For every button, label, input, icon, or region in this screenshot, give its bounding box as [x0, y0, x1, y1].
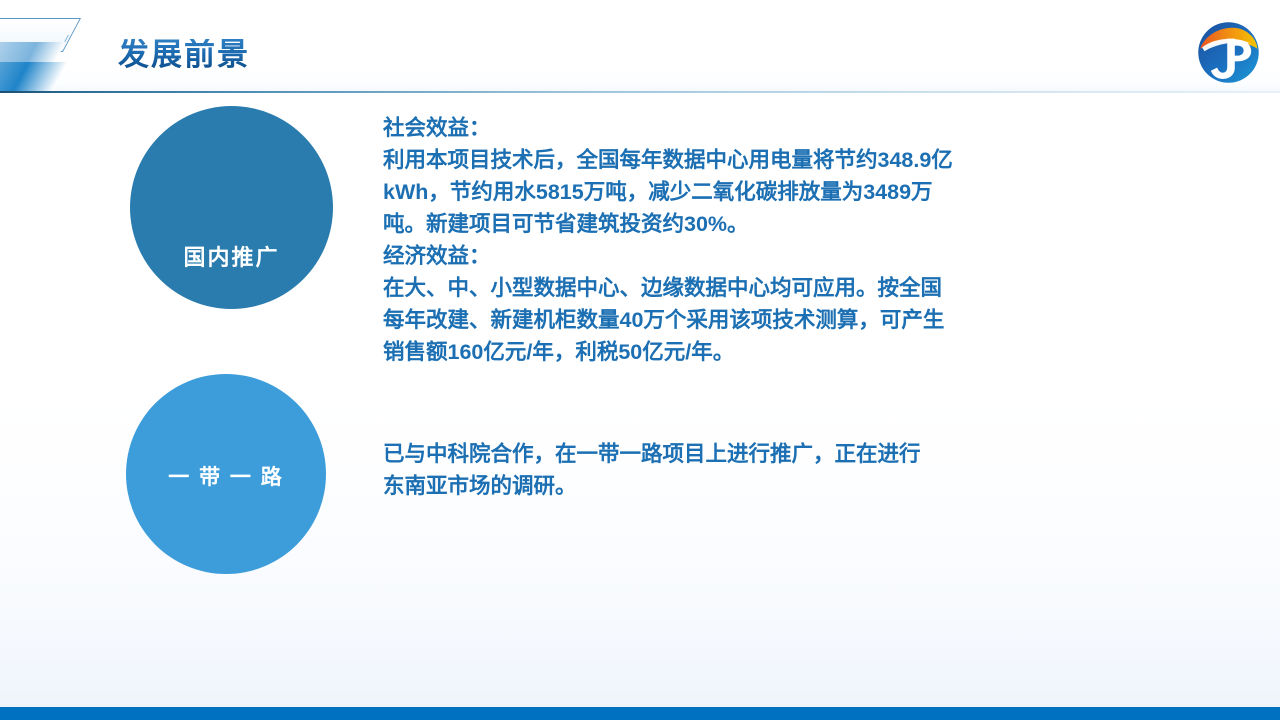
- copy-line: 社会效益：: [383, 112, 1063, 144]
- deco-shape-fill-light: [0, 42, 66, 64]
- header-divider: [0, 91, 1280, 93]
- content-block-belt-road: 已与中科院合作，在一带一路项目上进行推广，正在进行 东南亚市场的调研。: [383, 438, 1063, 502]
- bubble-label-belt-road: 一 带 一 路: [168, 461, 284, 491]
- copy-line: 利用本项目技术后，全国每年数据中心用电量将节约348.9亿: [383, 144, 1063, 176]
- copy-line: 经济效益：: [383, 240, 1063, 272]
- deco-shape-fill-blue: [0, 62, 68, 92]
- company-logo-icon: [1197, 21, 1260, 84]
- copy-line: 东南亚市场的调研。: [383, 470, 1063, 502]
- copy-line: 已与中科院合作，在一带一路项目上进行推广，正在进行: [383, 438, 1063, 470]
- copy-line: 销售额160亿元/年，利税50亿元/年。: [383, 336, 1063, 368]
- slide-canvas: 发展前景 国内推广: [0, 0, 1280, 720]
- copy-line: 吨。新建项目可节省建筑投资约30%。: [383, 208, 1063, 240]
- page-title: 发展前景: [118, 39, 250, 70]
- bubble-label-domestic: 国内推广: [183, 240, 279, 272]
- bubble-belt-and-road: 一 带 一 路: [126, 374, 326, 574]
- copy-line: 在大、中、小型数据中心、边缘数据中心均可应用。按全国: [383, 272, 1063, 304]
- footer-bar: [0, 707, 1280, 720]
- copy-line: kWh，节约用水5815万吨，减少二氧化碳排放量为3489万: [383, 176, 1063, 208]
- slide-header: 发展前景: [0, 0, 1280, 93]
- bubble-domestic-promotion: 国内推广: [130, 106, 333, 309]
- copy-line: 每年改建、新建机柜数量40万个采用该项技术测算，可产生: [383, 304, 1063, 336]
- content-block-benefits: 社会效益： 利用本项目技术后，全国每年数据中心用电量将节约348.9亿 kWh，…: [383, 112, 1063, 368]
